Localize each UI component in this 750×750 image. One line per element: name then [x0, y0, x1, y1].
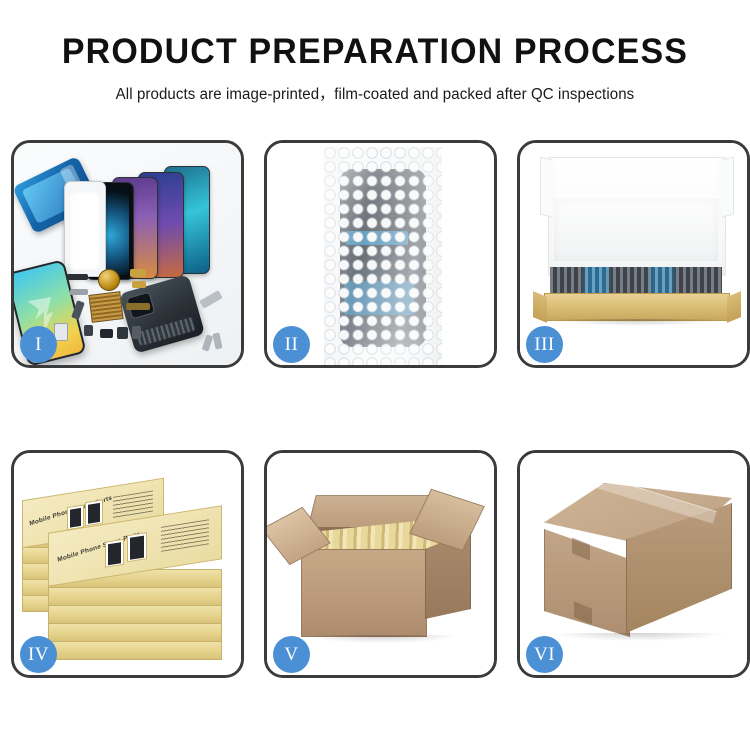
step-panel-3: III	[517, 140, 750, 368]
step-panel-1: I	[11, 140, 244, 368]
process-steps-grid: I II III	[11, 140, 739, 678]
phone-fan-graphic	[76, 165, 226, 285]
page-subtitle: All products are image-printed，film-coat…	[11, 82, 739, 104]
product-preparation-infographic: PRODUCT PREPARATION PROCESS All products…	[0, 0, 750, 750]
tray-front-graphic	[544, 293, 730, 321]
step-badge-4: IV	[20, 636, 57, 673]
tray-shadow	[554, 319, 720, 326]
step-badge-1: I	[20, 326, 57, 363]
tray-foam-graphic	[554, 199, 718, 261]
step-panel-4: Mobile Phone Spare Parts Mobile Phone Sp…	[11, 450, 244, 678]
step-badge-5: V	[273, 636, 310, 673]
step-badge-2: II	[273, 326, 310, 363]
bubble-wrap-sleeve	[324, 147, 442, 365]
page-title: PRODUCT PREPARATION PROCESS	[11, 34, 739, 71]
step-badge-3: III	[526, 326, 563, 363]
sealed-carton-shadow	[554, 633, 724, 641]
tray-contents-graphic	[550, 267, 722, 295]
coil-graphic	[98, 269, 120, 291]
carton-front-face	[301, 549, 427, 637]
header: PRODUCT PREPARATION PROCESS All products…	[0, 0, 750, 104]
step-panel-2: II	[264, 140, 497, 368]
sleeve-sheen	[324, 147, 442, 365]
chip-graphic	[88, 291, 123, 323]
step-badge-6: VI	[526, 636, 563, 673]
carton-shadow	[307, 635, 457, 643]
step-panel-5: V	[264, 450, 497, 678]
box-stack-graphic: Mobile Phone Spare Parts Mobile Phone Sp…	[22, 473, 240, 669]
step-panel-6: VI	[517, 450, 750, 678]
